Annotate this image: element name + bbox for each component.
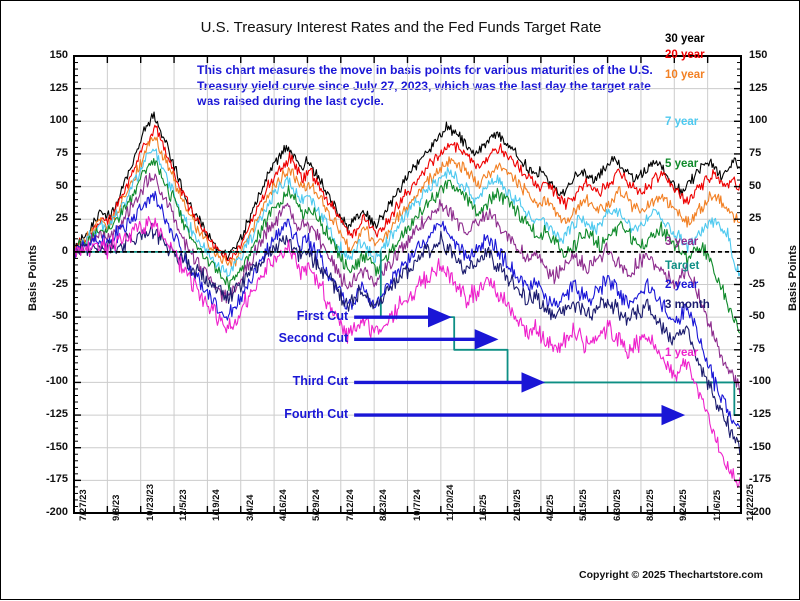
x-axis-tick-label: 7/12/24 <box>345 489 356 521</box>
series-label-2-year: 2 year <box>665 279 698 291</box>
y-axis-tick-label-l: 0 <box>22 245 68 257</box>
y-axis-tick-label-l: -200 <box>22 506 68 518</box>
chart-canvas: U.S. Treasury Interest Rates and the Fed… <box>0 0 800 600</box>
series-label-30-year: 30 year <box>665 33 705 45</box>
x-axis-tick-label: 1/19/24 <box>211 489 222 521</box>
y-axis-tick-label-l: -100 <box>22 375 68 387</box>
cut-label-2: Second Cut <box>198 331 348 345</box>
x-axis-tick-label: 7/27/23 <box>78 489 89 521</box>
x-axis-tick-label: 12/22/25 <box>745 484 756 521</box>
y-axis-tick-label-l: 125 <box>22 82 68 94</box>
x-axis-tick-label: 10/7/24 <box>412 489 423 521</box>
series-label-target: Target <box>665 260 699 272</box>
y-axis-tick-label-r: 150 <box>749 49 795 61</box>
y-axis-tick-label-r: -150 <box>749 441 795 453</box>
x-axis-tick-label: 8/12/25 <box>645 489 656 521</box>
x-axis-tick-label: 5/15/25 <box>578 489 589 521</box>
y-axis-tick-label-l: 75 <box>22 147 68 159</box>
x-axis-tick-label: 11/6/25 <box>712 490 723 521</box>
series-label-1-year: 1 year <box>665 347 698 359</box>
y-axis-tick-label-r: -75 <box>749 343 795 355</box>
x-axis-tick-label: 2/19/25 <box>512 489 523 521</box>
y-axis-tick-label-r: -100 <box>749 375 795 387</box>
x-axis-tick-label: 5/29/24 <box>311 489 322 521</box>
x-axis-tick-label: 12/5/23 <box>178 489 189 521</box>
y-axis-tick-label-l: -75 <box>22 343 68 355</box>
y-axis-tick-label-l: -25 <box>22 278 68 290</box>
x-axis-tick-label: 6/30/25 <box>612 489 623 521</box>
y-axis-tick-label-l: -175 <box>22 473 68 485</box>
copyright-notice: Copyright © 2025 Thechartstore.com <box>579 569 763 581</box>
y-axis-tick-label-r: -25 <box>749 278 795 290</box>
y-axis-tick-label-l: -125 <box>22 408 68 420</box>
y-axis-tick-label-r: -50 <box>749 310 795 322</box>
x-axis-tick-label: 1/6/25 <box>478 495 489 521</box>
cut-label-1: First Cut <box>198 309 348 323</box>
x-axis-tick-label: 4/16/24 <box>278 489 289 521</box>
x-axis-tick-label: 3/4/24 <box>245 495 256 521</box>
y-axis-tick-label-l: 150 <box>22 49 68 61</box>
y-axis-tick-label-r: 25 <box>749 212 795 224</box>
y-axis-tick-label-l: 100 <box>22 114 68 126</box>
y-axis-tick-label-r: 75 <box>749 147 795 159</box>
series-label-3-year: 3 year <box>665 236 698 248</box>
x-axis-tick-label: 4/2/25 <box>545 495 556 521</box>
y-axis-tick-label-r: -125 <box>749 408 795 420</box>
cut-label-4: Fourth Cut <box>198 407 348 421</box>
x-axis-tick-label: 11/20/24 <box>445 485 456 521</box>
y-axis-tick-label-r: 125 <box>749 82 795 94</box>
y-axis-tick-label-l: 50 <box>22 180 68 192</box>
x-axis-tick-label: 10/23/23 <box>145 484 156 521</box>
y-axis-tick-label-l: -50 <box>22 310 68 322</box>
y-axis-tick-label-l: -150 <box>22 441 68 453</box>
series-label-20-year: 20 year <box>665 49 705 61</box>
series-label-5-year: 5 year <box>665 158 698 170</box>
series-label-10-year: 10 year <box>665 69 705 81</box>
y-axis-tick-label-r: 100 <box>749 114 795 126</box>
x-axis-tick-label: 9/24/25 <box>678 489 689 521</box>
x-axis-tick-label: 8/23/24 <box>378 489 389 521</box>
y-axis-tick-label-r: 0 <box>749 245 795 257</box>
y-axis-tick-label-r: 50 <box>749 180 795 192</box>
x-axis-tick-label: 9/8/23 <box>111 495 122 521</box>
series-label-7-year: 7 year <box>665 116 698 128</box>
y-axis-tick-label-l: 25 <box>22 212 68 224</box>
series-label-3-month: 3 month <box>665 299 710 311</box>
cut-label-3: Third Cut <box>198 374 348 388</box>
